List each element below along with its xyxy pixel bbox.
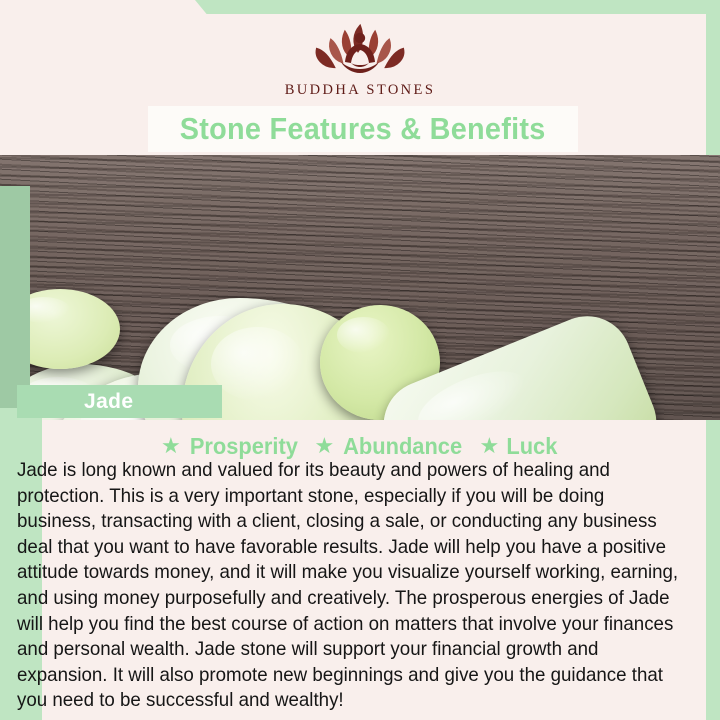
stone-name-band: Jade — [17, 385, 222, 418]
benefit-item: ★ Luck — [480, 433, 559, 460]
lotus-meditating-figure-icon — [301, 18, 419, 80]
benefit-item: ★ Abundance — [315, 433, 466, 460]
benefit-label: Luck — [507, 433, 558, 460]
star-icon: ★ — [480, 435, 500, 457]
stone-photo — [0, 155, 720, 420]
benefit-label: Prosperity — [190, 433, 298, 460]
stone-name-label: Jade — [84, 390, 133, 414]
stone-info-card: BUDDHA STONES Stone Features & Benefits … — [0, 0, 720, 720]
title-banner: Stone Features & Benefits — [148, 106, 578, 152]
page-title: Stone Features & Benefits — [180, 111, 546, 147]
star-icon: ★ — [315, 435, 335, 457]
brand-name: BUDDHA STONES — [285, 82, 436, 99]
benefit-label: Abundance — [343, 433, 462, 460]
star-icon: ★ — [161, 435, 181, 457]
stone-description: Jade is long known and valued for its be… — [17, 458, 681, 714]
brand-logo: BUDDHA STONES — [0, 18, 720, 104]
benefit-item: ★ Prosperity — [161, 433, 301, 460]
